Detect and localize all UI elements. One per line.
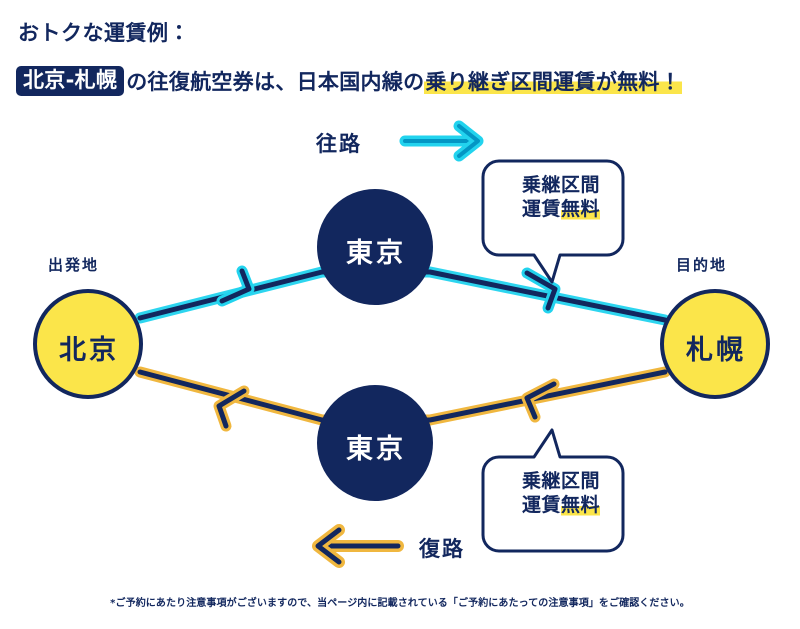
callout-outbound-line2-highlight: 無料 <box>561 198 600 220</box>
callout-return-line1: 乗継区間 <box>522 470 600 492</box>
callout-return-line2-highlight: 無料 <box>561 494 600 516</box>
footnote-text: *ご予約にあたり注意事項がございますので、当ページ内に記載されている「ご予約にあ… <box>0 594 800 609</box>
return-direction-label: 復路 <box>419 533 465 563</box>
return-legend-arrow-icon <box>318 530 398 562</box>
callout-outbound-line1: 乗継区間 <box>522 174 600 196</box>
callout-return-line2-plain: 運賃 <box>522 494 561 516</box>
route-diagram-canvas <box>0 0 800 629</box>
callout-return-text: 乗継区間 運賃無料 <box>499 470 623 518</box>
node-label-sapporo: 札幌 <box>655 328 777 367</box>
outbound-legend-arrow-icon <box>405 126 478 156</box>
callout-outbound-line2-plain: 運賃 <box>522 198 561 220</box>
fare-example-diagram: おトクな運賃例： 北京-札幌 の往復航空券は、日本国内線の 乗り継ぎ区間運賃が無… <box>0 0 800 629</box>
node-label-tokyo-outbound: 東京 <box>314 231 438 270</box>
origin-caption: 出発地 <box>48 254 99 275</box>
outbound-arrow-marker-left <box>222 271 249 301</box>
destination-caption: 目的地 <box>676 254 727 275</box>
node-label-tokyo-return: 東京 <box>314 427 438 466</box>
node-label-beijing: 北京 <box>28 328 150 367</box>
outbound-direction-label: 往路 <box>316 128 362 158</box>
callout-outbound-text: 乗継区間 運賃無料 <box>499 174 623 222</box>
